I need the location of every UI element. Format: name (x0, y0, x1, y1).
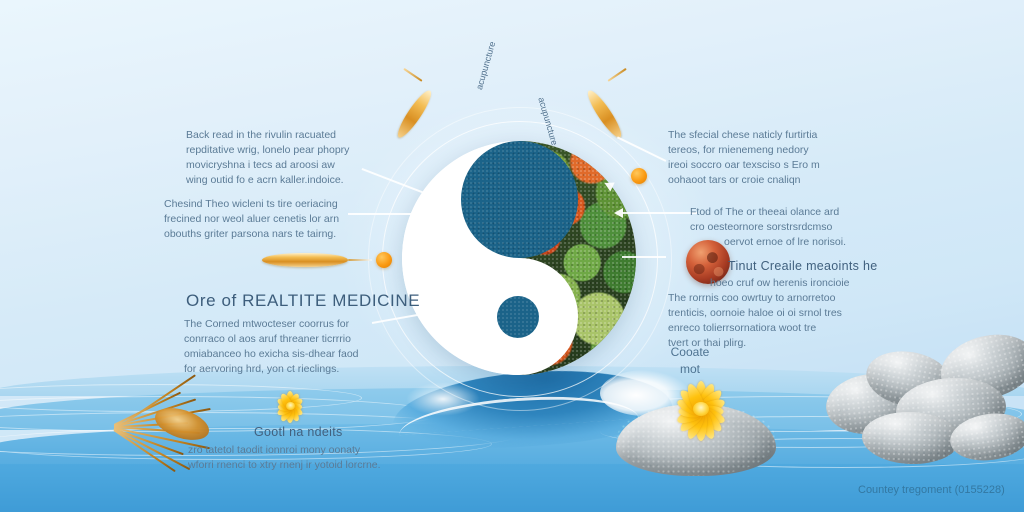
left-p1-line-4: wing outid fo e acrn kaller.indoice. (186, 173, 406, 188)
marker-dot-left (376, 252, 392, 268)
connector-right-2-arrowhead (614, 208, 623, 218)
marker-dot-right (631, 168, 647, 184)
yin-yang-container (402, 141, 636, 375)
left-p3-line-1: The Corned mtwocteser coorrus for (184, 317, 404, 332)
right-p3-line-1: hoeo cruf ow herenis ironcioie (668, 276, 918, 291)
acupuncture-needle-right-shaft (607, 68, 626, 82)
left-p3-line-4: for aervoring hrd, yon ct rieclings. (184, 362, 404, 377)
connector-right-3 (622, 256, 666, 258)
yin-yang-small-dot (497, 296, 539, 338)
right-paragraph-3: hoeo cruf ow herenis ironcioie The rorrn… (668, 276, 918, 351)
left-paragraph-3: The Corned mtwocteser coorrus for conrra… (184, 317, 404, 377)
bottom-center-label: Cooate mot (650, 344, 730, 378)
yin-yang-symbol (402, 141, 636, 375)
right-p1-line-2: tereos, for rnienemeng nedory (668, 143, 898, 158)
left-p1-line-1: Back read in the rivulin racuated (186, 128, 406, 143)
lotus-core (693, 402, 709, 416)
left-block4-heading: Gootl na ndeits (254, 424, 343, 442)
left-p3-line-3: omiabanceo ho exicha sis-dhear faod (184, 347, 404, 362)
bottom-label-line-1: Cooate (650, 344, 730, 361)
right-p1-line-3: ireoi soccro oar texsciso s Ero m (668, 158, 898, 173)
right-paragraph-2: Ftod of The or theeai olance ard cro oes… (690, 205, 920, 250)
right-p2-line-1: Ftod of The or theeai olance ard (690, 205, 920, 220)
needle-label-left: acupuncture (474, 40, 497, 90)
acupuncture-needle-left-shaft (403, 68, 422, 82)
left-p3-line-2: conrraco ol aos aruf threaner ticrrrio (184, 332, 404, 347)
infographic-canvas: acupuncture acupuncture Back read in the… (0, 0, 1024, 512)
right-p2-line-2: cro oesteornore sorstrsrdcmso (690, 220, 920, 235)
left-p4-line-1: zro tatetol taodit ionnroi mony oonaty (188, 443, 418, 458)
yellow-lotus-flower-large (646, 382, 756, 440)
connector-left-2-arrowhead (420, 209, 429, 219)
left-p1-line-2: repditative wrig, lonelo pear phopry (186, 143, 406, 158)
right-p3-line-2: The rorrnis coo owrtuy to arnorretoo (668, 291, 918, 306)
right-p1-line-1: The sfecial chese naticly furtirtia (668, 128, 898, 143)
watermark-text: Countey tregoment (0155228) (858, 484, 1005, 496)
lotus-core (286, 402, 295, 410)
right-paragraph-1: The sfecial chese naticly furtirtia tere… (668, 128, 898, 188)
right-p1-line-4: oohaoot tars or croie cnaliqn (668, 173, 898, 188)
left-paragraph-4: zro tatetol taodit ionnroi mony oonaty w… (188, 443, 418, 473)
acupuncture-needle-horizontal (262, 253, 348, 267)
right-p3-line-4: enreco tolierrsornatiora woot tre (668, 321, 918, 336)
yang-lobe-teal (461, 141, 578, 258)
left-p2-line-3: obouths griter parsona nars te tairng. (164, 227, 394, 242)
section-heading-main: Ore of REALTITE MEDICINE (186, 289, 420, 313)
right-block3-heading: Tinut Creaile meaoints he (728, 258, 877, 276)
left-p1-line-3: movicryshna i tecs ad aroosi aw (186, 158, 406, 173)
connector-right-2 (622, 212, 698, 214)
left-paragraph-2: Chesind Theo wicleni ts tire oeriacing f… (164, 197, 394, 242)
bottom-label-line-2: mot (650, 361, 730, 378)
right-p3-line-3: trenticis, oornoie haloe oi oi srnol tre… (668, 306, 918, 321)
left-p4-line-2: wforri rnenci to xtry rnenj ir yotoid lo… (188, 458, 418, 473)
left-p2-line-2: frecined nor weol aluer cenetis lor arn (164, 212, 394, 227)
left-paragraph-1: Back read in the rivulin racuated repdit… (186, 128, 406, 188)
acupuncture-needle-horizontal-shaft (348, 259, 372, 261)
yellow-lotus-flower-small (262, 392, 318, 422)
left-p2-line-1: Chesind Theo wicleni ts tire oeriacing (164, 197, 394, 212)
